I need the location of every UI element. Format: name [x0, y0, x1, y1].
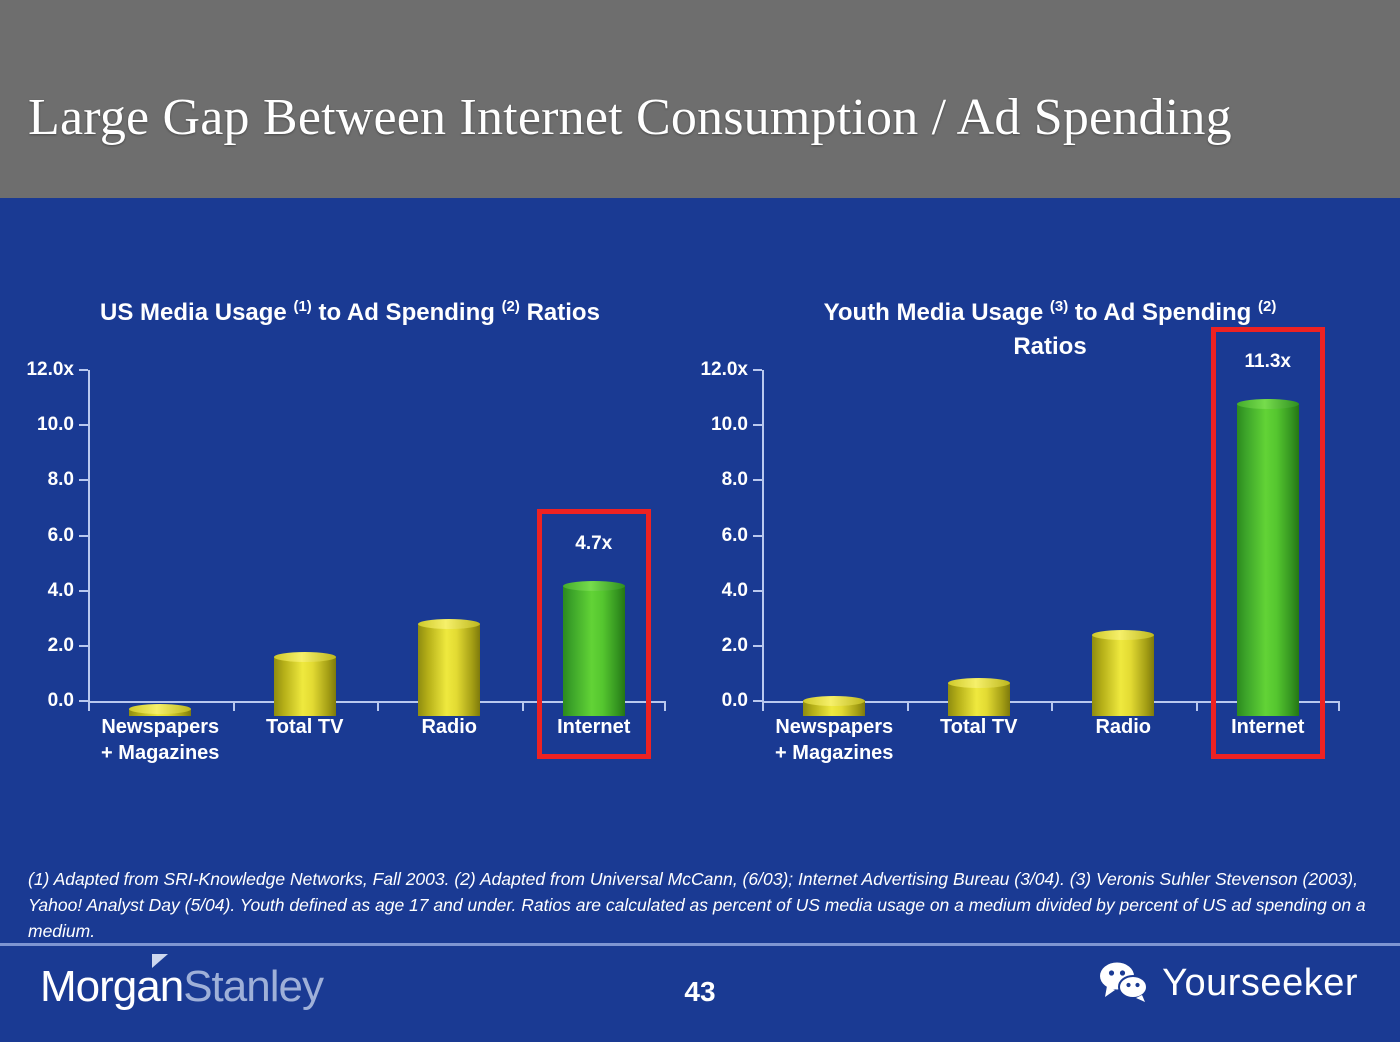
y-axis-tick-label: 6.0 — [0, 525, 74, 547]
plot-area-us-media: 0.02.04.06.08.010.012.0xNewspapers+ Maga… — [88, 370, 668, 718]
bar-radio[interactable] — [418, 624, 480, 716]
y-axis-tick — [79, 535, 88, 537]
x-axis-tick — [1051, 701, 1053, 711]
chart-title-footnote-ref-2: (2) — [1258, 298, 1276, 315]
x-axis-category-label: Radio — [377, 714, 522, 740]
plot-area-youth-media: 0.02.04.06.08.010.012.0xNewspapers+ Maga… — [762, 370, 1342, 718]
chart-title-footnote-ref-1: (1) — [293, 298, 311, 315]
x-axis-tick — [522, 701, 524, 711]
y-axis — [88, 370, 90, 702]
x-axis-category-line: Radio — [377, 714, 522, 740]
y-axis-tick — [79, 700, 88, 702]
x-axis-category-line: + Magazines — [88, 740, 233, 766]
bar-radio[interactable] — [1092, 635, 1154, 716]
highlight-box-internet — [537, 509, 651, 759]
y-axis-tick-label: 10.0 — [644, 414, 748, 436]
bar-top-cap — [274, 652, 336, 662]
chart-title-us-media: US Media Usage (1) to Ad Spending (2) Ra… — [0, 290, 700, 330]
x-axis-category-label: Total TV — [907, 714, 1052, 740]
x-axis-category-label: Radio — [1051, 714, 1196, 740]
chart-title-mid: to Ad Spending — [1075, 299, 1251, 326]
bar-total-tv[interactable] — [948, 683, 1010, 716]
x-axis-tick — [377, 701, 379, 711]
chart-title-footnote-ref-3: (3) — [1050, 298, 1068, 315]
y-axis-tick-label: 10.0 — [0, 414, 74, 436]
chart-title-lead: Youth Media Usage — [824, 299, 1044, 326]
y-axis-tick — [753, 590, 762, 592]
bar-body — [418, 624, 480, 716]
bar-top-cap — [129, 704, 191, 714]
yourseeker-brand: Yourseeker — [1098, 960, 1358, 1007]
chart-title-tail: Ratios — [527, 299, 600, 326]
x-axis-tick — [907, 701, 909, 711]
morgan-stanley-triangle-icon — [152, 954, 168, 968]
chart-title-tail: Ratios — [1013, 333, 1086, 360]
y-axis — [762, 370, 764, 702]
y-axis-tick — [753, 369, 762, 371]
x-axis-tick — [1338, 701, 1340, 711]
page-title: Large Gap Between Internet Consumption /… — [28, 88, 1378, 147]
y-axis-tick-label: 0.0 — [644, 690, 748, 712]
chart-panel-us-media: US Media Usage (1) to Ad Spending (2) Ra… — [0, 198, 700, 818]
y-axis-tick — [753, 535, 762, 537]
y-axis-tick — [753, 700, 762, 702]
brand-name: Yourseeker — [1162, 962, 1358, 1005]
chart-title-footnote-ref-2: (2) — [502, 298, 520, 315]
x-axis-category-line: Radio — [1051, 714, 1196, 740]
bar-top-cap — [803, 696, 865, 706]
chart-title-lead: US Media Usage — [100, 299, 287, 326]
y-axis-tick-label: 0.0 — [0, 690, 74, 712]
y-axis-tick-label: 4.0 — [644, 580, 748, 602]
bar-top-cap — [1092, 630, 1154, 640]
bar-top-cap — [948, 678, 1010, 688]
x-axis-tick — [88, 701, 90, 711]
y-axis-tick — [79, 479, 88, 481]
y-axis-tick — [79, 369, 88, 371]
x-axis-tick — [233, 701, 235, 711]
y-axis-tick — [79, 424, 88, 426]
bar-total-tv[interactable] — [274, 657, 336, 716]
chart-panel-youth-media: Youth Media Usage (3) to Ad Spending (2)… — [700, 198, 1400, 818]
x-axis-category-line: + Magazines — [762, 740, 907, 766]
x-axis-tick — [762, 701, 764, 711]
x-axis-category-label: Total TV — [233, 714, 378, 740]
x-axis-category-label: Newspapers+ Magazines — [88, 714, 233, 766]
y-axis-tick-label: 4.0 — [0, 580, 74, 602]
wechat-icon — [1098, 960, 1150, 1007]
y-axis-tick-label: 12.0x — [0, 359, 74, 381]
bar-body — [274, 657, 336, 716]
y-axis-tick-label: 8.0 — [644, 469, 748, 491]
y-axis-tick — [753, 424, 762, 426]
y-axis-tick-label: 6.0 — [644, 525, 748, 547]
y-axis-tick — [79, 590, 88, 592]
footnote-text: (1) Adapted from SRI-Knowledge Networks,… — [28, 866, 1373, 944]
x-axis-category-label: Newspapers+ Magazines — [762, 714, 907, 766]
slide-footer: MorganStanley 43 Yourseeker — [0, 946, 1400, 1042]
x-axis-category-line: Total TV — [233, 714, 378, 740]
x-axis-category-line: Newspapers — [762, 714, 907, 740]
y-axis-tick — [79, 645, 88, 647]
y-axis-tick — [753, 479, 762, 481]
x-axis-tick — [1196, 701, 1198, 711]
y-axis-tick-label: 12.0x — [644, 359, 748, 381]
bar-top-cap — [418, 619, 480, 629]
x-axis-category-line: Total TV — [907, 714, 1052, 740]
y-axis-tick-label: 2.0 — [644, 635, 748, 657]
bar-body — [1092, 635, 1154, 716]
slide: Large Gap Between Internet Consumption /… — [0, 0, 1400, 1042]
highlight-box-internet — [1211, 327, 1325, 759]
chart-title-mid: to Ad Spending — [318, 299, 494, 326]
slide-header: Large Gap Between Internet Consumption /… — [0, 0, 1400, 198]
y-axis-tick-label: 8.0 — [0, 469, 74, 491]
y-axis-tick-label: 2.0 — [0, 635, 74, 657]
y-axis-tick — [753, 645, 762, 647]
x-axis-category-line: Newspapers — [88, 714, 233, 740]
